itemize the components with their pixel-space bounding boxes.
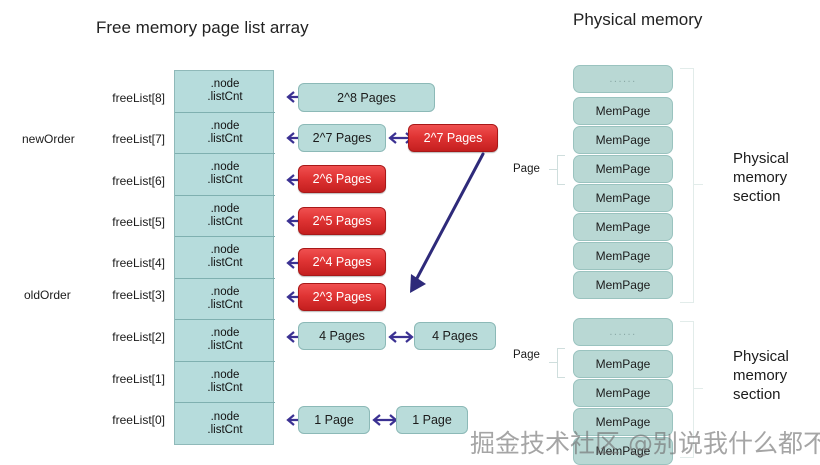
page-box-5-0[interactable]: 2^5 Pages — [298, 207, 386, 235]
page-box-2-0[interactable]: 4 Pages — [298, 322, 386, 350]
section-label-2: Physical memory section — [733, 348, 819, 404]
array-cell-node-6: .node — [211, 161, 240, 174]
page-box-3-0[interactable]: 2^3 Pages — [298, 283, 386, 311]
page-box-0-1[interactable]: 1 Page — [396, 406, 468, 434]
section-label-1-line-2: memory — [733, 169, 819, 188]
array-cell-7[interactable]: .node .listCnt — [175, 113, 275, 155]
array-cell-listcnt-6: .listCnt — [207, 174, 242, 187]
array-cell-listcnt-8: .listCnt — [207, 91, 242, 104]
array-cell-node-8: .node — [211, 78, 240, 91]
freelist-index-2: freeList[2] — [60, 330, 165, 344]
array-cell-2[interactable]: .node .listCnt — [175, 320, 275, 362]
freelist-index-0: freeList[0] — [60, 413, 165, 427]
page-tag-2: Page — [513, 349, 540, 361]
page-box-8-0[interactable]: 2^8 Pages — [298, 83, 435, 112]
section-label-1-line-3: section — [733, 188, 819, 207]
section-label-1: Physical memory section — [733, 150, 819, 206]
page-bracket-2 — [557, 348, 565, 378]
array-cell-listcnt-5: .listCnt — [207, 216, 242, 229]
mem-section-1-mempage-2[interactable]: MemPage — [573, 126, 673, 154]
mem-section-2-mempage-1[interactable]: MemPage — [573, 350, 673, 378]
page-bracket-1 — [557, 155, 565, 185]
array-cell-listcnt-7: .listCnt — [207, 133, 242, 146]
right-title: Physical memory — [573, 10, 702, 30]
section-bracket-tick-1 — [693, 184, 703, 185]
array-cell-6[interactable]: .node .listCnt — [175, 154, 275, 196]
mem-section-1-mempage-3[interactable]: MemPage — [573, 155, 673, 183]
section-bracket-1 — [680, 68, 694, 303]
array-cell-5[interactable]: .node .listCnt — [175, 196, 275, 238]
freelist-index-8: freeList[8] — [60, 91, 165, 105]
array-cell-0[interactable]: .node .listCnt — [175, 403, 275, 445]
freelist-index-7: freeList[7] — [60, 132, 165, 146]
split-flow-arrow — [390, 140, 510, 305]
array-cell-listcnt-4: .listCnt — [207, 257, 242, 270]
page-bracket-tick-1 — [549, 169, 557, 170]
page-box-0-0[interactable]: 1 Page — [298, 406, 370, 434]
array-cell-8[interactable]: .node .listCnt — [175, 71, 275, 113]
freelist-index-3: freeList[3] — [60, 288, 165, 302]
freelist-index-6: freeList[6] — [60, 174, 165, 188]
section-label-1-line-1: Physical — [733, 150, 819, 169]
page-box-4-0[interactable]: 2^4 Pages — [298, 248, 386, 276]
array-cell-node-5: .node — [211, 203, 240, 216]
freelist-index-4: freeList[4] — [60, 256, 165, 270]
page-box-7-0[interactable]: 2^7 Pages — [298, 124, 386, 152]
diagram-canvas: Free memory page list array Physical mem… — [0, 0, 820, 465]
section-label-2-line-3: section — [733, 386, 819, 405]
mem-section-1-mempage-7[interactable]: MemPage — [573, 271, 673, 299]
array-cell-listcnt-0: .listCnt — [207, 424, 242, 437]
mem-section-1-mempage-4[interactable]: MemPage — [573, 184, 673, 212]
array-cell-node-4: .node — [211, 244, 240, 257]
array-cell-node-7: .node — [211, 120, 240, 133]
mem-section-1-dots: ...... — [573, 65, 673, 93]
page-box-2-1[interactable]: 4 Pages — [414, 322, 496, 350]
page-box-6-0[interactable]: 2^6 Pages — [298, 165, 386, 193]
double-arrow-chain-2 — [386, 330, 416, 344]
array-cell-listcnt-1: .listCnt — [207, 382, 242, 395]
freelist-index-5: freeList[5] — [60, 215, 165, 229]
mem-section-1-mempage-1[interactable]: MemPage — [573, 97, 673, 125]
mem-section-2-mempage-2[interactable]: MemPage — [573, 379, 673, 407]
mem-section-2-dots: ...... — [573, 318, 673, 346]
array-cell-3[interactable]: .node .listCnt — [175, 279, 275, 321]
page-tag-1: Page — [513, 163, 540, 175]
section-label-2-line-2: memory — [733, 367, 819, 386]
page-bracket-tick-2 — [549, 362, 557, 363]
section-label-2-line-1: Physical — [733, 348, 819, 367]
array-cell-node-0: .node — [211, 411, 240, 424]
array-cell-node-2: .node — [211, 327, 240, 340]
array-cell-listcnt-2: .listCnt — [207, 340, 242, 353]
freelist-array-column: .node .listCnt .node .listCnt .node .lis… — [174, 70, 274, 445]
array-cell-4[interactable]: .node .listCnt — [175, 237, 275, 279]
mem-section-1-mempage-6[interactable]: MemPage — [573, 242, 673, 270]
watermark-text: 掘金技术社区 @别说我什么都不会 — [470, 424, 820, 460]
left-title: Free memory page list array — [96, 18, 309, 38]
array-cell-listcnt-3: .listCnt — [207, 299, 242, 312]
array-cell-node-1: .node — [211, 369, 240, 382]
array-cell-node-3: .node — [211, 286, 240, 299]
array-cell-1[interactable]: .node .listCnt — [175, 362, 275, 404]
mem-section-1-mempage-5[interactable]: MemPage — [573, 213, 673, 241]
freelist-index-1: freeList[1] — [60, 372, 165, 386]
section-bracket-tick-2 — [693, 388, 703, 389]
